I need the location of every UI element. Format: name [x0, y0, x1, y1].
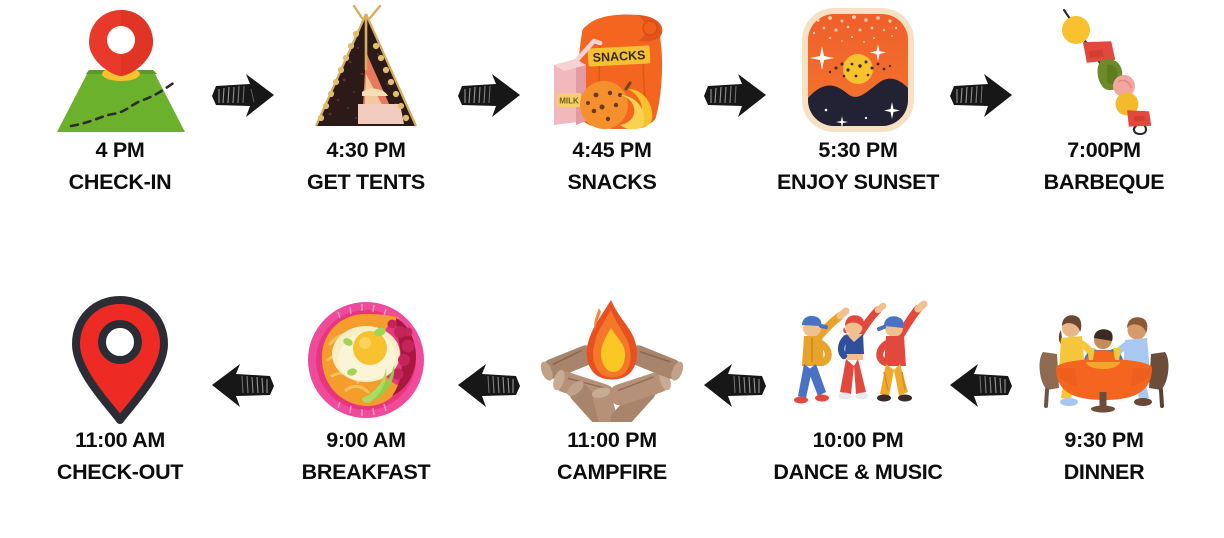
step-title: GET TENTS [307, 172, 425, 194]
itinerary-board: 4 PM CHECK-IN [0, 0, 1224, 538]
campfire-icon [537, 290, 687, 430]
arrow-left-sketch-icon [944, 290, 1018, 496]
step-time: 4:30 PM [307, 140, 425, 162]
arrow-right-sketch-icon [452, 0, 526, 206]
step-enjoy-sunset[interactable]: 5:30 PM ENJOY SUNSET [772, 0, 944, 206]
snack-bag-label: SNACKS [592, 48, 645, 65]
milk-carton-label: MILK [559, 97, 579, 106]
arrow-left-sketch-icon [206, 290, 280, 496]
arrow-right-sketch-icon [206, 0, 280, 206]
kebab-skewer-icon [1029, 0, 1179, 140]
arrow-left-sketch-icon [452, 290, 526, 496]
breakfast-plate-icon [291, 290, 441, 430]
step-labels: 5:30 PM ENJOY SUNSET [777, 140, 939, 193]
step-labels: 9:00 AM BREAKFAST [302, 430, 431, 483]
step-title: ENJOY SUNSET [777, 172, 939, 194]
step-title: CHECK-IN [69, 172, 172, 194]
family-dinner-table-icon [1029, 290, 1179, 430]
location-pin-outline-icon [45, 290, 195, 430]
step-title: CAMPFIRE [557, 462, 667, 484]
step-title: DANCE & MUSIC [773, 462, 942, 484]
step-check-out[interactable]: 11:00 AM CHECK-OUT [34, 290, 206, 496]
snack-bag-icon: SNACKS MILK [537, 0, 687, 140]
step-time: 5:30 PM [777, 140, 939, 162]
step-check-in[interactable]: 4 PM CHECK-IN [34, 0, 206, 206]
step-labels: 11:00 PM CAMPFIRE [557, 430, 667, 483]
step-title: SNACKS [568, 172, 657, 194]
dancing-people-icon [783, 290, 933, 430]
map-location-pin-icon [45, 0, 195, 140]
teepee-tent-icon [291, 0, 441, 140]
step-labels: 9:30 PM DINNER [1064, 430, 1145, 483]
step-title: BARBEQUE [1044, 172, 1165, 194]
step-barbeque[interactable]: 7:00PM BARBEQUE [1018, 0, 1190, 206]
step-campfire[interactable]: 11:00 PM CAMPFIRE [526, 290, 698, 496]
step-time: 11:00 PM [557, 430, 667, 452]
step-dance-music[interactable]: 10:00 PM DANCE & MUSIC [772, 290, 944, 496]
step-labels: 4:30 PM GET TENTS [307, 140, 425, 193]
sunset-scene-icon [783, 0, 933, 140]
step-time: 10:00 PM [773, 430, 942, 452]
step-breakfast[interactable]: 9:00 AM BREAKFAST [280, 290, 452, 496]
step-title: BREAKFAST [302, 462, 431, 484]
step-time: 7:00PM [1044, 140, 1165, 162]
step-time: 4 PM [69, 140, 172, 162]
step-time: 9:00 AM [302, 430, 431, 452]
step-labels: 4 PM CHECK-IN [69, 140, 172, 193]
arrow-left-sketch-icon [698, 290, 772, 496]
step-title: DINNER [1064, 462, 1145, 484]
step-time: 11:00 AM [57, 430, 183, 452]
step-time: 4:45 PM [568, 140, 657, 162]
step-time: 9:30 PM [1064, 430, 1145, 452]
step-labels: 11:00 AM CHECK-OUT [57, 430, 183, 483]
step-labels: 10:00 PM DANCE & MUSIC [773, 430, 942, 483]
step-title: CHECK-OUT [57, 462, 183, 484]
step-dinner[interactable]: 9:30 PM DINNER [1018, 290, 1190, 496]
step-labels: 7:00PM BARBEQUE [1044, 140, 1165, 193]
arrow-right-sketch-icon [944, 0, 1018, 206]
arrow-right-sketch-icon [698, 0, 772, 206]
timeline-row-top: 4 PM CHECK-IN [0, 0, 1224, 210]
timeline-row-bottom: 11:00 AM CHECK-OUT [0, 290, 1224, 500]
step-labels: 4:45 PM SNACKS [568, 140, 657, 193]
step-snacks[interactable]: SNACKS MILK [526, 0, 698, 206]
step-get-tents[interactable]: 4:30 PM GET TENTS [280, 0, 452, 206]
